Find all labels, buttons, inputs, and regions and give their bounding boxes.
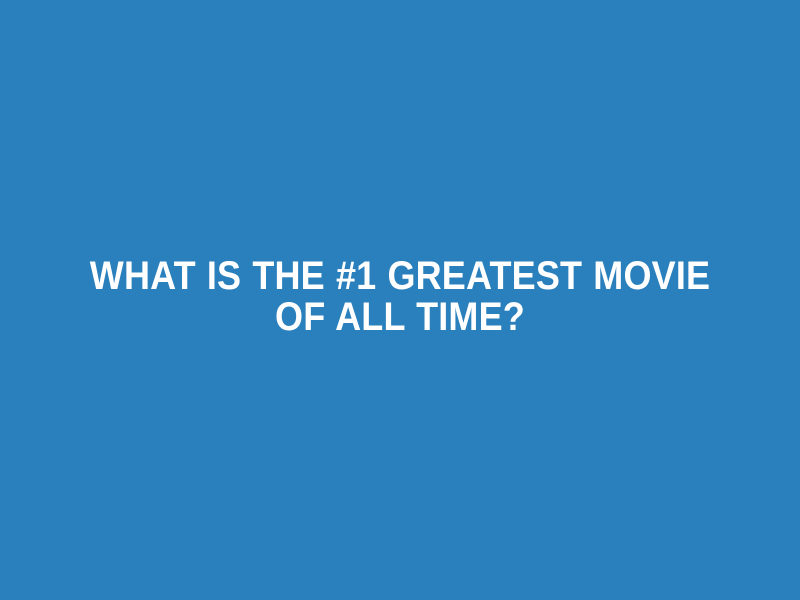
- banner-headline: What is the #1 Greatest Movie of All Tim…: [85, 256, 715, 338]
- headline-container: What is the #1 Greatest Movie of All Tim…: [50, 256, 750, 338]
- featured-image-banner: What is the #1 Greatest Movie of All Tim…: [0, 0, 800, 600]
